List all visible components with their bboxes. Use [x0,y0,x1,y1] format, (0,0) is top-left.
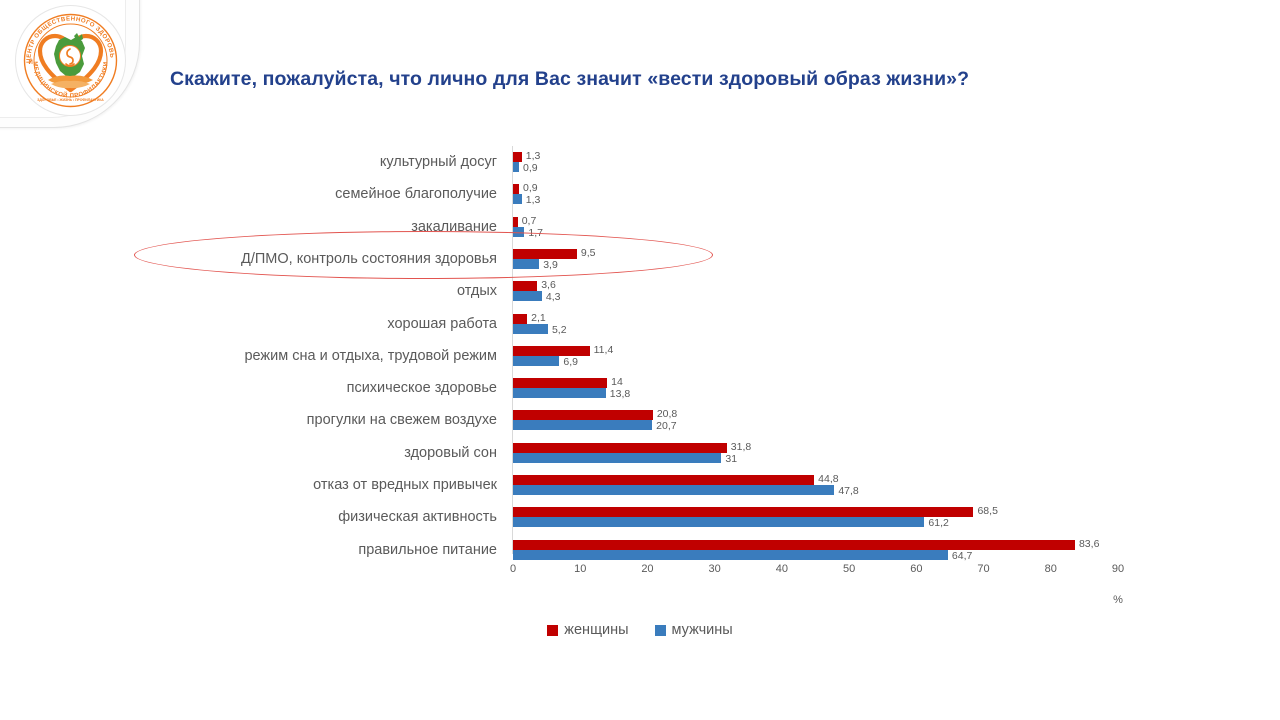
bar-men[interactable] [513,517,924,527]
axis-tick: 90 [1112,563,1124,575]
bar-men[interactable] [513,453,721,463]
bar-women[interactable] [513,346,590,356]
axis-tick: 20 [641,563,653,575]
legend-label-women: женщины [564,622,628,638]
bar-men[interactable] [513,420,652,430]
category-label: отдых [457,283,497,299]
bar-women[interactable] [513,540,1075,550]
category-label: правильное питание [358,542,497,558]
bar-men[interactable] [513,324,548,334]
axis-tick: 0 [510,563,516,575]
axis-tick: 50 [843,563,855,575]
legend-swatch-men [655,625,666,636]
legend-item-men[interactable]: мужчины [655,622,733,638]
bar-men[interactable] [513,259,539,269]
value-label-women: 68,5 [977,505,997,517]
bar-women[interactable] [513,378,607,388]
bar-women[interactable] [513,410,653,420]
value-label-women: 3,6 [541,279,556,291]
bar-women[interactable] [513,152,522,162]
value-label-women: 9,5 [581,247,596,259]
bar-men[interactable] [513,194,522,204]
axis-tick: 80 [1045,563,1057,575]
bar-men[interactable] [513,227,524,237]
bar-men[interactable] [513,291,542,301]
category-label: физическая активность [338,509,497,525]
category-axis-labels: культурный досугсемейное благополучиезак… [0,0,497,560]
value-label-men: 1,3 [526,194,541,206]
value-label-men: 61,2 [928,517,948,529]
chart-legend: женщины мужчины [0,622,1280,638]
value-label-men: 1,7 [528,227,543,239]
value-label-men: 47,8 [838,485,858,497]
bar-women[interactable] [513,184,519,194]
axis-tick: 40 [776,563,788,575]
bar-women[interactable] [513,443,727,453]
axis-unit-label: % [1113,594,1123,606]
slide-canvas: ЦЕНТР ОБЩЕСТВЕННОГО ЗДОРОВЬЯ МЕДИЦИНСКОЙ… [0,0,1280,720]
bar-women[interactable] [513,314,527,324]
category-label: отказ от вредных привычек [313,477,497,493]
bar-men[interactable] [513,485,834,495]
category-label: режим сна и отдыха, трудовой режим [244,348,497,364]
value-label-men: 6,9 [563,356,578,368]
bar-chart: культурный досугсемейное благополучиезак… [0,0,1280,720]
bar-women[interactable] [513,281,537,291]
value-label-women: 11,4 [594,344,614,356]
bar-women[interactable] [513,249,577,259]
value-label-women: 44,8 [818,473,838,485]
category-label: психическое здоровье [347,380,497,396]
bar-men[interactable] [513,388,606,398]
legend-label-men: мужчины [672,622,733,638]
bar-women[interactable] [513,475,814,485]
category-label: прогулки на свежем воздухе [307,412,497,428]
value-label-women: 31,8 [731,441,751,453]
bar-women[interactable] [513,507,973,517]
axis-tick: 30 [709,563,721,575]
value-label-women: 0,9 [523,182,538,194]
value-label-men: 3,9 [543,259,558,271]
category-label: Д/ПМО, контроль состояния здоровья [241,251,497,267]
value-label-men: 5,2 [552,324,567,336]
category-label: здоровый сон [404,445,497,461]
category-label: культурный досуг [380,154,497,170]
value-label-women: 14 [611,376,623,388]
bar-men[interactable] [513,356,559,366]
value-label-men: 4,3 [546,291,561,303]
value-label-men: 0,9 [523,162,538,174]
value-label-women: 2,1 [531,312,546,324]
value-label-women: 83,6 [1079,538,1099,550]
category-label: закаливание [411,219,497,235]
value-label-women: 1,3 [526,150,541,162]
category-label: хорошая работа [387,316,497,332]
axis-tick: 70 [977,563,989,575]
value-label-men: 31 [725,453,737,465]
axis-tick: 60 [910,563,922,575]
value-label-women: 0,7 [522,215,537,227]
value-label-women: 20,8 [657,408,677,420]
value-label-men: 20,7 [656,420,676,432]
bar-women[interactable] [513,217,518,227]
axis-tick: 10 [574,563,586,575]
bar-men[interactable] [513,162,519,172]
category-label: семейное благополучие [335,186,497,202]
value-label-men: 64,7 [952,550,972,562]
value-label-men: 13,8 [610,388,630,400]
plot-area: 1,30,90,91,30,71,79,53,93,64,32,15,211,4… [513,146,1119,554]
bar-men[interactable] [513,550,948,560]
legend-item-women[interactable]: женщины [547,622,628,638]
legend-swatch-women [547,625,558,636]
